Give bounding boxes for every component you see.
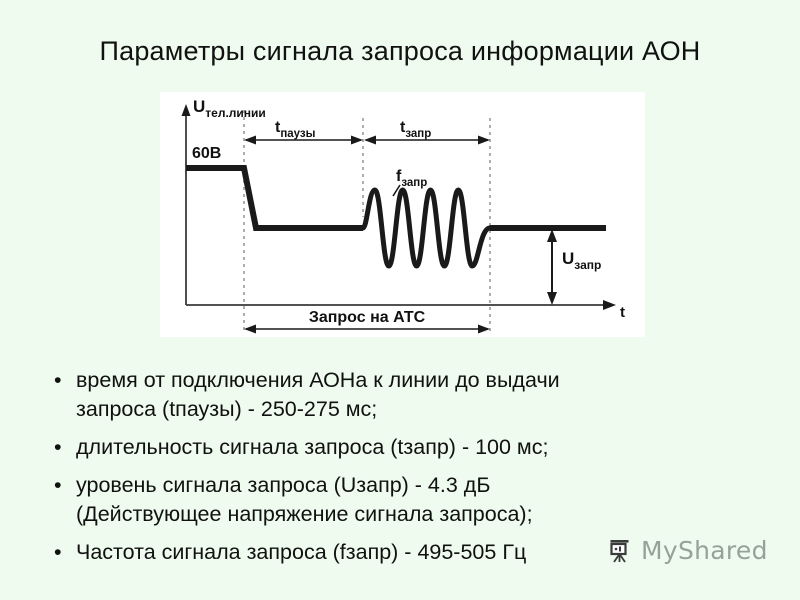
waveform-sine-burst: [363, 190, 490, 266]
list-item-line-1: длительность сигнала запроса (tзапр) - 1…: [76, 435, 548, 459]
u-request-label-main: U: [562, 249, 574, 268]
bullet-marker-icon: •: [54, 433, 62, 462]
signal-diagram-panel: Uтел.линии t 60В tпаузы tзапр fзапр: [160, 92, 645, 337]
list-item-line-2: запроса (tпаузы) - 250-275 мс;: [76, 395, 776, 424]
list-item-line-1: время от подключения АОНа к линии до выд…: [76, 368, 560, 392]
presentation-screen-icon: [607, 538, 633, 564]
watermark-text: MyShared: [641, 536, 768, 565]
t-request-arrow-left-icon: [364, 136, 376, 145]
x-axis-arrow-icon: [603, 300, 616, 310]
y-axis-label: Uтел.линии: [193, 97, 266, 120]
x-axis-label: t: [620, 304, 625, 321]
t-pause-label-sub: паузы: [280, 128, 315, 140]
list-item-line-1: Частота сигнала запроса (fзапр) - 495-50…: [76, 540, 526, 564]
f-request-label-sub: запр: [401, 177, 427, 189]
bullet-marker-icon: •: [54, 366, 62, 395]
list-item: • уровень сигнала запроса (Uзапр) - 4.3 …: [46, 471, 776, 529]
u-request-label-sub: запр: [574, 258, 601, 272]
list-item-line-2: (Действующее напряжение сигнала запроса)…: [76, 500, 776, 529]
list-item-line-1: уровень сигнала запроса (Uзапр) - 4.3 дБ: [76, 473, 490, 497]
bullet-marker-icon: •: [54, 538, 62, 567]
atc-request-arrow-left-icon: [244, 325, 256, 334]
u-request-arrow-down-icon: [547, 292, 557, 305]
voltage-level-label: 60В: [192, 145, 221, 162]
u-request-label: Uзапр: [562, 249, 601, 272]
y-axis-arrow-icon: [182, 104, 191, 116]
t-request-label-sub: запр: [405, 128, 431, 140]
signal-diagram-svg: Uтел.линии t 60В tпаузы tзапр fзапр: [160, 92, 645, 337]
y-axis-label-sub: тел.линии: [205, 106, 266, 120]
f-request-label: fзапр: [396, 168, 427, 189]
t-request-label: tзапр: [400, 119, 431, 140]
page-title: Параметры сигнала запроса информации АОН: [0, 36, 800, 67]
watermark: MyShared: [607, 536, 768, 565]
t-pause-arrow-left-icon: [244, 136, 256, 145]
bullet-marker-icon: •: [54, 471, 62, 500]
waveform-pulse-drop: [186, 168, 363, 228]
y-axis-label-main: U: [193, 97, 205, 116]
t-request-arrow-right-icon: [478, 136, 490, 145]
atc-request-label: Запрос на АТС: [309, 309, 426, 326]
t-pause-arrow-right-icon: [351, 136, 363, 145]
list-item: • время от подключения АОНа к линии до в…: [46, 366, 776, 424]
t-pause-label: tпаузы: [275, 119, 316, 140]
atc-request-arrow-right-icon: [478, 325, 490, 334]
list-item: • длительность сигнала запроса (tзапр) -…: [46, 433, 776, 462]
